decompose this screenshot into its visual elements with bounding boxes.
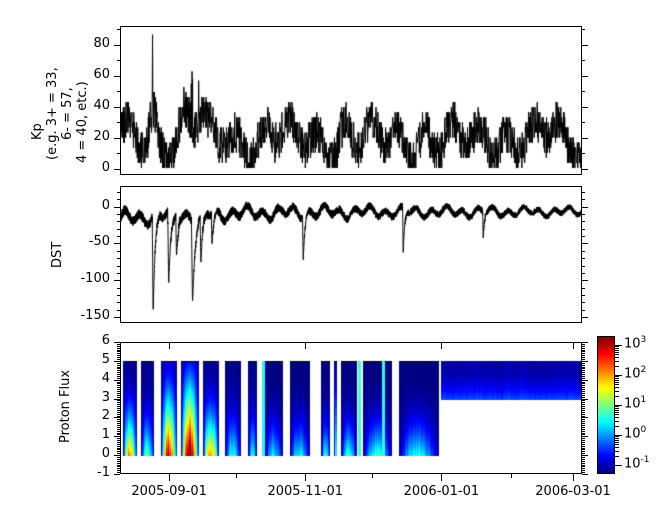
tick-mark xyxy=(582,378,585,379)
tick-mark xyxy=(582,417,588,418)
tick-mark xyxy=(582,393,585,394)
tick-mark xyxy=(117,348,120,349)
kp-axis-label-line2: (e.g. 3+ = 33, xyxy=(45,67,60,160)
tick-mark xyxy=(582,383,585,384)
tick-mark xyxy=(615,376,619,377)
tick-mark xyxy=(117,258,120,259)
tick-mark xyxy=(117,406,120,407)
colorbar-tick-label: 10-1 xyxy=(624,455,650,471)
tick-mark xyxy=(117,465,120,466)
tick-mark xyxy=(615,447,619,448)
tick-mark xyxy=(615,412,619,413)
tick-mark xyxy=(117,434,120,435)
tick-mark xyxy=(615,354,619,355)
tick-mark xyxy=(117,429,120,430)
tick-mark xyxy=(582,466,585,467)
tick-mark xyxy=(117,221,120,222)
tick-mark xyxy=(582,408,585,409)
tick-mark xyxy=(582,207,588,208)
tick-mark xyxy=(582,470,585,471)
tick-mark xyxy=(582,438,585,439)
tick-mark xyxy=(117,295,120,296)
tick-mark xyxy=(582,440,585,441)
tick-mark xyxy=(117,408,120,409)
tick-mark xyxy=(117,457,120,458)
tick-mark xyxy=(117,410,120,411)
tick-mark xyxy=(117,414,120,415)
dst-plot-canvas xyxy=(121,187,581,322)
tick-mark xyxy=(511,474,512,478)
tick-mark xyxy=(582,359,585,360)
tick-mark xyxy=(372,474,373,478)
tick-mark xyxy=(582,421,585,422)
tick-mark xyxy=(582,425,585,426)
tick-mark xyxy=(615,348,619,349)
tick-mark xyxy=(582,416,585,417)
tick-label: 80 xyxy=(93,36,110,51)
tick-mark xyxy=(582,374,585,375)
tick-mark xyxy=(615,438,619,439)
tick-mark xyxy=(117,359,120,360)
tick-mark xyxy=(582,295,585,296)
tick-mark xyxy=(582,229,585,230)
tick-mark xyxy=(114,45,120,46)
tick-mark xyxy=(117,440,120,441)
tick-mark xyxy=(117,472,120,473)
tick-mark xyxy=(117,385,120,386)
tick-mark xyxy=(582,60,585,61)
tick-mark xyxy=(117,463,120,464)
tick-mark xyxy=(117,397,120,398)
tick-mark xyxy=(582,45,588,46)
tick-mark xyxy=(582,365,585,366)
tick-mark xyxy=(117,122,120,123)
x-axis-tick-label: 2006-01-01 xyxy=(391,484,491,499)
tick-mark xyxy=(582,453,585,454)
tick-mark xyxy=(615,384,619,385)
tick-label: 40 xyxy=(93,98,110,113)
tick-label: 4 xyxy=(102,371,110,386)
tick-mark xyxy=(117,419,120,420)
tick-mark xyxy=(615,426,619,427)
tick-label: 20 xyxy=(93,129,110,144)
tick-mark xyxy=(582,351,585,352)
tick-mark xyxy=(169,474,170,478)
tick-mark xyxy=(582,370,585,371)
tick-mark xyxy=(582,431,585,432)
tick-label: 3 xyxy=(102,390,110,405)
tick-mark xyxy=(582,363,585,364)
dst-axis-label: DST xyxy=(50,242,65,268)
tick-mark xyxy=(117,442,120,443)
tick-mark xyxy=(582,404,585,405)
tick-mark xyxy=(117,461,120,462)
tick-mark xyxy=(582,243,588,244)
tick-mark xyxy=(117,310,120,311)
tick-mark xyxy=(615,361,619,362)
tick-mark xyxy=(582,412,585,413)
tick-mark xyxy=(114,243,120,244)
tick-mark xyxy=(236,474,237,478)
tick-mark xyxy=(615,444,619,445)
colorbar-tick-label: 101 xyxy=(624,395,646,411)
tick-mark xyxy=(582,436,588,437)
tick-mark xyxy=(114,138,120,139)
tick-mark xyxy=(117,400,120,401)
tick-mark xyxy=(582,380,588,381)
tick-mark xyxy=(582,367,585,368)
tick-mark xyxy=(582,397,585,398)
tick-mark xyxy=(117,365,120,366)
tick-mark xyxy=(582,406,585,407)
tick-mark xyxy=(114,107,120,108)
tick-mark xyxy=(117,370,120,371)
tick-mark xyxy=(582,423,585,424)
tick-mark xyxy=(441,474,442,478)
tick-mark xyxy=(117,412,120,413)
tick-mark xyxy=(117,302,120,303)
tick-mark xyxy=(582,419,585,420)
tick-mark xyxy=(615,378,619,379)
tick-mark xyxy=(582,153,585,154)
tick-mark xyxy=(117,346,120,347)
tick-mark xyxy=(117,387,120,388)
tick-mark xyxy=(305,342,306,349)
tick-mark xyxy=(582,368,585,369)
tick-mark xyxy=(117,192,120,193)
colorbar-tick-label: 100 xyxy=(624,425,646,441)
tick-mark xyxy=(582,76,588,77)
tick-label: 2 xyxy=(102,408,110,423)
kp-plot-canvas xyxy=(121,27,581,174)
tick-mark xyxy=(582,376,585,377)
colorbar-mantissa: 10 xyxy=(624,426,641,441)
colorbar-frame xyxy=(597,336,615,474)
tick-mark xyxy=(582,472,585,473)
tick-mark xyxy=(117,344,120,345)
tick-mark xyxy=(582,361,588,362)
dst-panel-frame xyxy=(120,186,582,323)
tick-mark xyxy=(117,449,120,450)
tick-mark xyxy=(582,344,585,345)
tick-mark xyxy=(114,474,120,475)
tick-mark xyxy=(615,380,619,381)
colorbar-tick-label: 103 xyxy=(624,335,646,351)
tick-mark xyxy=(582,372,585,373)
tick-mark xyxy=(117,199,120,200)
tick-label: -150 xyxy=(80,308,110,323)
tick-mark xyxy=(582,355,585,356)
tick-mark xyxy=(582,410,585,411)
colorbar-mantissa: 10 xyxy=(624,336,641,351)
tick-mark xyxy=(117,353,120,354)
tick-mark xyxy=(615,387,619,388)
tick-mark xyxy=(114,436,120,437)
tick-mark xyxy=(582,310,585,311)
tick-mark xyxy=(117,153,120,154)
tick-mark xyxy=(582,273,585,274)
tick-mark xyxy=(582,317,588,318)
tick-mark xyxy=(582,199,585,200)
tick-mark xyxy=(582,385,585,386)
colorbar-mantissa: 10 xyxy=(624,396,641,411)
tick-mark xyxy=(117,355,120,356)
tick-label: -1 xyxy=(97,465,110,480)
tick-mark xyxy=(582,463,585,464)
tick-mark xyxy=(615,346,619,347)
tick-label: -100 xyxy=(80,271,110,286)
tick-label: 60 xyxy=(93,67,110,82)
tick-mark xyxy=(117,229,120,230)
tick-mark xyxy=(117,453,120,454)
tick-mark xyxy=(582,122,585,123)
tick-mark xyxy=(582,414,585,415)
tick-mark xyxy=(615,406,619,407)
tick-label: 0 xyxy=(102,446,110,461)
colorbar-gradient xyxy=(598,337,614,473)
tick-mark xyxy=(615,382,619,383)
tick-mark xyxy=(615,396,619,397)
tick-mark xyxy=(117,448,120,449)
tick-mark xyxy=(117,438,120,439)
tick-mark xyxy=(117,425,120,426)
colorbar-exponent: 3 xyxy=(641,335,647,345)
tick-mark xyxy=(582,353,585,354)
tick-mark xyxy=(582,474,588,475)
tick-mark xyxy=(582,400,585,401)
tick-mark xyxy=(114,76,120,77)
tick-mark xyxy=(582,357,585,358)
tick-mark xyxy=(615,436,619,437)
tick-mark xyxy=(582,433,585,434)
tick-mark xyxy=(114,169,120,170)
tick-mark xyxy=(117,444,120,445)
tick-mark xyxy=(117,236,120,237)
tick-mark xyxy=(582,169,588,170)
tick-mark xyxy=(117,431,120,432)
tick-mark xyxy=(117,29,120,30)
tick-mark xyxy=(582,448,585,449)
tick-mark xyxy=(117,451,120,452)
tick-mark xyxy=(117,351,120,352)
tick-mark xyxy=(582,107,588,108)
tick-mark xyxy=(117,357,120,358)
tick-mark xyxy=(117,383,120,384)
tick-mark xyxy=(615,414,619,415)
colorbar-exponent: 0 xyxy=(641,425,647,435)
tick-mark xyxy=(582,342,588,343)
tick-mark xyxy=(117,374,120,375)
tick-mark xyxy=(114,455,120,456)
tick-mark xyxy=(582,280,588,281)
kp-axis-label-line1: Kp xyxy=(30,123,45,140)
tick-mark xyxy=(582,442,585,443)
tick-mark xyxy=(615,408,619,409)
tick-mark xyxy=(117,395,120,396)
tick-mark xyxy=(582,465,585,466)
kp-axis-label-line3: 6- = 57, xyxy=(60,87,75,140)
tick-mark xyxy=(615,421,619,422)
tick-mark xyxy=(117,427,120,428)
tick-mark xyxy=(117,363,120,364)
tick-mark xyxy=(117,91,120,92)
tick-mark xyxy=(615,391,619,392)
tick-mark xyxy=(582,266,585,267)
tick-mark xyxy=(117,459,120,460)
tick-mark xyxy=(582,346,585,347)
tick-mark xyxy=(117,367,120,368)
tick-mark xyxy=(117,368,120,369)
kp-axis-label-line4: 4 = 40, etc.) xyxy=(75,81,90,163)
tick-label: 6 xyxy=(102,333,110,348)
tick-label: -50 xyxy=(89,234,110,249)
tick-mark xyxy=(615,442,619,443)
tick-mark xyxy=(305,474,306,478)
tick-mark xyxy=(582,350,585,351)
tick-mark xyxy=(117,468,120,469)
tick-mark xyxy=(117,416,120,417)
tick-mark xyxy=(582,427,585,428)
tick-mark xyxy=(582,461,585,462)
tick-mark xyxy=(117,378,120,379)
space-weather-figure: 806040200 Kp (e.g. 3+ = 33, 6- = 57, 4 =… xyxy=(0,0,665,523)
tick-mark xyxy=(114,317,120,318)
tick-mark xyxy=(582,138,588,139)
tick-mark xyxy=(582,302,585,303)
tick-mark xyxy=(582,402,585,403)
tick-mark xyxy=(117,393,120,394)
tick-mark xyxy=(169,342,170,349)
tick-mark xyxy=(615,465,622,466)
tick-mark xyxy=(615,357,619,358)
kp-panel-frame xyxy=(120,26,582,175)
tick-mark xyxy=(117,402,120,403)
tick-mark xyxy=(117,288,120,289)
tick-mark xyxy=(582,429,585,430)
tick-mark xyxy=(441,342,442,349)
proton-flux-heatmap-canvas xyxy=(121,343,581,473)
tick-mark xyxy=(117,389,120,390)
tick-mark xyxy=(582,192,585,193)
tick-label: 0 xyxy=(102,160,110,175)
tick-mark xyxy=(117,446,120,447)
tick-mark xyxy=(582,455,588,456)
tick-mark xyxy=(582,446,585,447)
colorbar-exponent: 2 xyxy=(641,365,647,375)
tick-mark xyxy=(117,433,120,434)
tick-mark xyxy=(582,395,585,396)
tick-mark xyxy=(582,91,585,92)
x-axis-tick-label: 2005-11-01 xyxy=(255,484,355,499)
tick-mark xyxy=(582,444,585,445)
tick-mark xyxy=(615,350,619,351)
tick-mark xyxy=(582,236,585,237)
tick-label: 1 xyxy=(102,427,110,442)
tick-mark xyxy=(117,423,120,424)
tick-mark xyxy=(114,207,120,208)
tick-mark xyxy=(117,404,120,405)
proton-flux-panel-frame xyxy=(120,342,582,474)
colorbar-mantissa: 10 xyxy=(624,366,641,381)
tick-mark xyxy=(582,29,585,30)
tick-mark xyxy=(582,391,585,392)
tick-mark xyxy=(114,280,120,281)
tick-mark xyxy=(582,251,585,252)
tick-mark xyxy=(117,60,120,61)
tick-mark xyxy=(117,273,120,274)
proton-flux-axis-label: Proton Flux xyxy=(58,370,73,443)
tick-mark xyxy=(117,350,120,351)
tick-mark xyxy=(117,382,120,383)
x-axis-tick-label: 2006-03-01 xyxy=(523,484,623,499)
colorbar-tick-label: 102 xyxy=(624,365,646,381)
tick-mark xyxy=(615,456,619,457)
tick-mark xyxy=(117,466,120,467)
tick-mark xyxy=(582,389,585,390)
tick-mark xyxy=(582,258,585,259)
tick-mark xyxy=(117,214,120,215)
tick-mark xyxy=(582,382,585,383)
tick-mark xyxy=(582,221,585,222)
tick-mark xyxy=(582,434,585,435)
tick-mark xyxy=(573,474,574,478)
tick-mark xyxy=(615,417,619,418)
tick-mark xyxy=(117,391,120,392)
tick-mark xyxy=(573,342,574,349)
colorbar-exponent: 1 xyxy=(641,395,647,405)
tick-mark xyxy=(117,372,120,373)
tick-mark xyxy=(615,451,619,452)
tick-mark xyxy=(117,266,120,267)
tick-mark xyxy=(615,366,619,367)
tick-mark xyxy=(615,440,619,441)
tick-mark xyxy=(114,342,120,343)
tick-mark xyxy=(582,468,585,469)
tick-mark xyxy=(117,470,120,471)
tick-mark xyxy=(582,214,585,215)
tick-mark xyxy=(582,288,585,289)
colorbar-mantissa: 10 xyxy=(624,456,641,471)
tick-mark xyxy=(582,451,585,452)
tick-mark xyxy=(117,376,120,377)
tick-label: 5 xyxy=(102,352,110,367)
tick-mark xyxy=(582,348,585,349)
tick-mark xyxy=(615,352,619,353)
tick-mark xyxy=(114,417,120,418)
tick-mark xyxy=(117,251,120,252)
tick-mark xyxy=(114,380,120,381)
tick-mark xyxy=(582,459,585,460)
x-axis-tick-label: 2005-09-01 xyxy=(119,484,219,499)
tick-mark xyxy=(582,387,585,388)
tick-mark xyxy=(582,449,585,450)
tick-mark xyxy=(114,361,120,362)
tick-mark xyxy=(117,421,120,422)
tick-mark xyxy=(615,410,619,411)
colorbar-exponent: -1 xyxy=(641,455,650,465)
tick-mark xyxy=(582,457,585,458)
tick-label: 0 xyxy=(102,198,110,213)
